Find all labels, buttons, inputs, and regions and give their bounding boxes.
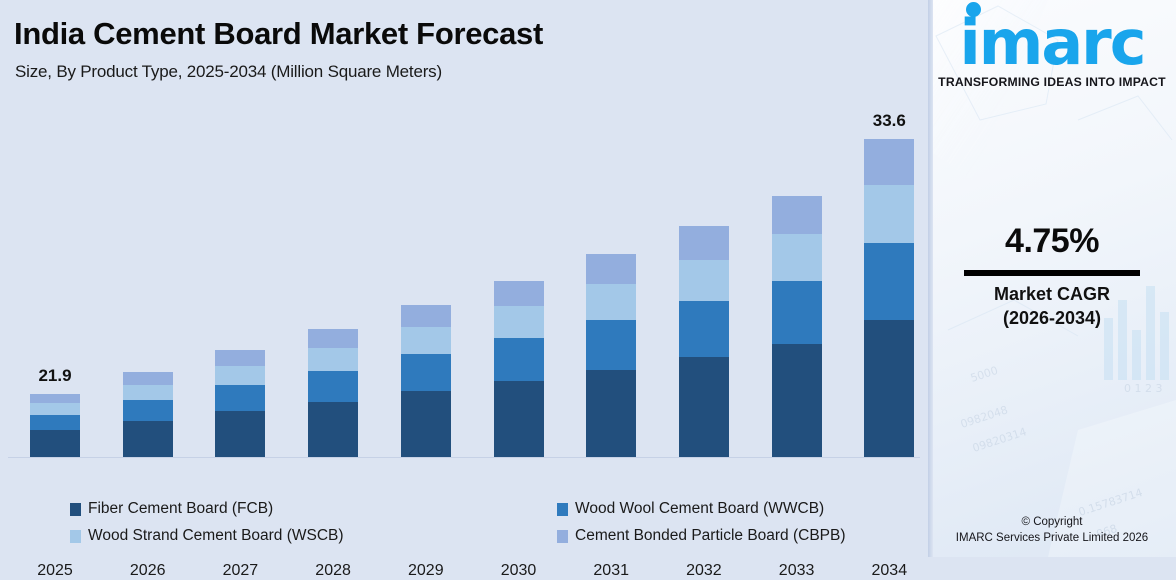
x-axis-line (8, 457, 920, 458)
bar-segment-wwcb[interactable] (494, 338, 544, 381)
svg-text:09820314: 09820314 (971, 425, 1028, 455)
bar-segment-cbpb[interactable] (123, 372, 173, 385)
bar-segment-cbpb[interactable] (401, 305, 451, 327)
bar-segment-wscb[interactable] (679, 260, 729, 301)
legend-item-3[interactable]: Cement Bonded Particle Board (CBPB) (557, 527, 846, 545)
bar-stack[interactable] (494, 281, 544, 457)
bar-segment-wscb[interactable] (586, 284, 636, 321)
cagr-callout: 4.75% Market CAGR (2026-2034) (928, 222, 1176, 329)
imarc-logo: imarc TRANSFORMING IDEAS INTO IMPACT (928, 14, 1176, 89)
bar-stack[interactable] (772, 196, 822, 457)
cagr-caption: Market CAGR (928, 284, 1176, 305)
bar-segment-wwcb[interactable] (772, 281, 822, 344)
plot-area: 21.9202520262027202820292030203120322033… (0, 100, 928, 458)
bar-segment-wscb[interactable] (30, 403, 80, 415)
bar-group-2029[interactable] (401, 305, 451, 457)
bar-segment-wscb[interactable] (772, 234, 822, 281)
page-title: India Cement Board Market Forecast (14, 16, 543, 52)
legend-swatch-icon (70, 503, 81, 516)
chart-legend: Fiber Cement Board (FCB)Wood Wool Cement… (70, 500, 930, 552)
bar-group-2026[interactable] (123, 372, 173, 457)
brand-panel: 5000 0 1 2 3 0982048 09820314 0.15783714… (928, 0, 1176, 557)
bar-segment-fcb[interactable] (586, 370, 636, 457)
bar-segment-cbpb[interactable] (30, 394, 80, 403)
logo-dot-icon (966, 2, 981, 17)
bar-stack[interactable] (401, 305, 451, 457)
cagr-rule (964, 270, 1140, 276)
bar-group-2031[interactable] (586, 254, 636, 457)
legend-swatch-icon (557, 503, 568, 516)
bar-segment-fcb[interactable] (494, 381, 544, 457)
bar-segment-cbpb[interactable] (308, 329, 358, 348)
bar-stack[interactable] (864, 139, 914, 457)
bar-group-2033[interactable] (772, 196, 822, 457)
chart-panel: India Cement Board Market Forecast Size,… (0, 0, 928, 557)
bar-segment-wwcb[interactable] (679, 301, 729, 357)
legend-swatch-icon (557, 530, 568, 543)
bar-segment-cbpb[interactable] (586, 254, 636, 283)
legend-label: Fiber Cement Board (FCB) (88, 500, 273, 518)
bar-segment-wscb[interactable] (401, 327, 451, 355)
chart-subtitle: Size, By Product Type, 2025-2034 (Millio… (15, 62, 442, 82)
legend-item-0[interactable]: Fiber Cement Board (FCB) (70, 500, 273, 518)
bar-group-2028[interactable] (308, 329, 358, 457)
bar-segment-cbpb[interactable] (772, 196, 822, 234)
bar-group-2030[interactable] (494, 281, 544, 457)
svg-text:0 1 2 3: 0 1 2 3 (1124, 382, 1162, 395)
bar-segment-cbpb[interactable] (679, 226, 729, 260)
cagr-period: (2026-2034) (928, 308, 1176, 329)
bar-segment-wwcb[interactable] (401, 354, 451, 391)
bar-segment-fcb[interactable] (401, 391, 451, 457)
bar-segment-fcb[interactable] (679, 357, 729, 457)
bar-segment-fcb[interactable] (864, 320, 914, 457)
cagr-value: 4.75% (928, 222, 1176, 261)
bar-segment-fcb[interactable] (308, 402, 358, 457)
svg-text:5000: 5000 (969, 364, 1000, 385)
legend-label: Cement Bonded Particle Board (CBPB) (575, 527, 846, 545)
bar-segment-fcb[interactable] (215, 411, 265, 457)
bar-group-2032[interactable] (679, 226, 729, 457)
bar-segment-cbpb[interactable] (215, 350, 265, 366)
bar-segment-wwcb[interactable] (215, 385, 265, 411)
bar-stack[interactable] (30, 394, 80, 457)
bar-group-2025[interactable]: 21.9 (30, 394, 80, 457)
bar-segment-wwcb[interactable] (586, 320, 636, 369)
bar-value-label: 21.9 (0, 366, 110, 386)
bar-segment-wwcb[interactable] (123, 400, 173, 420)
bar-stack[interactable] (308, 329, 358, 457)
bar-stack[interactable] (215, 350, 265, 457)
bar-stack[interactable] (123, 372, 173, 457)
copyright-notice: © Copyright IMARC Services Private Limit… (928, 514, 1176, 547)
bar-stack[interactable] (586, 254, 636, 457)
bar-segment-wwcb[interactable] (864, 243, 914, 320)
bar-segment-wscb[interactable] (215, 366, 265, 385)
legend-swatch-icon (70, 530, 81, 543)
legend-label: Wood Strand Cement Board (WSCB) (88, 527, 344, 545)
bar-segment-fcb[interactable] (123, 421, 173, 457)
bar-stack[interactable] (679, 226, 729, 457)
bar-segment-fcb[interactable] (30, 430, 80, 457)
bar-segment-wscb[interactable] (308, 348, 358, 371)
bar-group-2034[interactable]: 33.6 (864, 139, 914, 457)
chart-screenshot: India Cement Board Market Forecast Size,… (0, 0, 1176, 557)
x-axis-tick-2034: 2034 (834, 562, 944, 580)
bar-segment-wwcb[interactable] (30, 415, 80, 430)
bar-segment-wscb[interactable] (864, 185, 914, 243)
logo-wordmark: imarc (959, 14, 1144, 73)
legend-item-1[interactable]: Wood Wool Cement Board (WWCB) (557, 500, 824, 518)
legend-item-2[interactable]: Wood Strand Cement Board (WSCB) (70, 527, 344, 545)
bar-segment-cbpb[interactable] (864, 139, 914, 185)
bar-segment-wwcb[interactable] (308, 371, 358, 402)
bar-segment-fcb[interactable] (772, 344, 822, 457)
bar-segment-cbpb[interactable] (494, 281, 544, 306)
svg-text:0982048: 0982048 (959, 403, 1010, 431)
copyright-line-1: © Copyright (928, 514, 1176, 531)
bar-segment-wscb[interactable] (123, 385, 173, 401)
bar-group-2027[interactable] (215, 350, 265, 457)
copyright-line-2: IMARC Services Private Limited 2026 (928, 530, 1176, 547)
bar-segment-wscb[interactable] (494, 306, 544, 338)
legend-label: Wood Wool Cement Board (WWCB) (575, 500, 824, 518)
